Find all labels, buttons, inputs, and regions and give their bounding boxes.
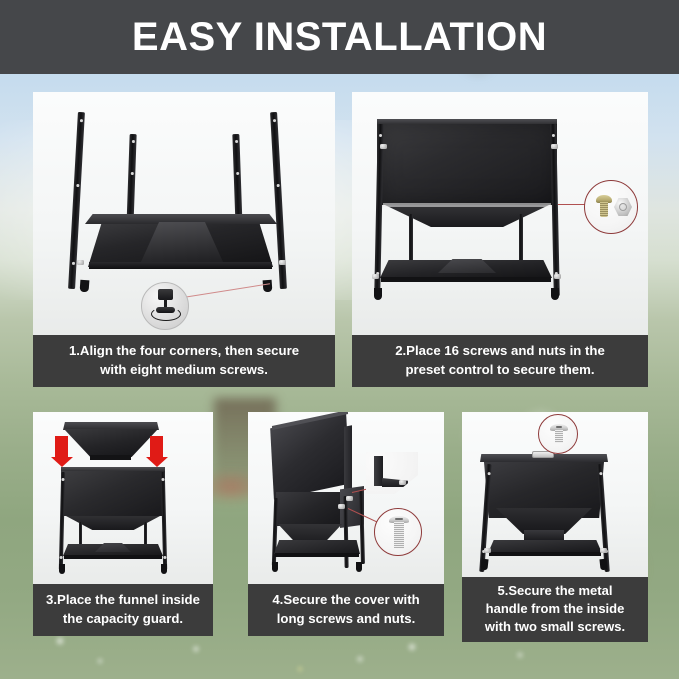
inner-support-right (519, 214, 523, 268)
tray-nut-left (372, 274, 379, 279)
hinge-hole-upper (346, 496, 353, 501)
foot-left (59, 564, 65, 574)
step-2-caption-line-2: preset control to secure them. (356, 361, 644, 380)
screw-slot-icon (556, 426, 562, 428)
step-1-photo (33, 92, 335, 335)
foot-right (599, 559, 607, 571)
rotation-arrow-icon (151, 307, 181, 321)
foot-right (161, 564, 167, 574)
small-screw-shaft-icon (555, 430, 563, 443)
screw-nut-callout (584, 180, 638, 234)
step-5-photo (462, 412, 648, 577)
insert-arrow-right (150, 436, 163, 458)
guard-back-panel (61, 470, 165, 516)
foot-right (551, 288, 559, 300)
step-card-2: 2.Place 16 screws and nuts in the preset… (352, 92, 648, 387)
step-4-caption-line-1: 4.Secure the cover with (252, 591, 440, 610)
leg-rear-right (359, 490, 365, 564)
long-screw-shaft-icon (394, 522, 404, 548)
handle-screw-callout (538, 414, 578, 454)
funnel-highlight (383, 203, 551, 207)
foot-left (80, 280, 90, 293)
inner-support-left (409, 214, 413, 268)
callout-leader-line-1 (183, 283, 270, 298)
cover-side-edge (344, 425, 352, 493)
funnel-rim (63, 422, 159, 430)
step-3-caption-line-1: 3.Place the funnel inside (37, 591, 209, 610)
bottom-tray (274, 540, 360, 554)
step-4-caption-line-2: long screws and nuts. (252, 610, 440, 629)
panel-screw-top-right (551, 144, 558, 149)
step-card-4: 4.Secure the cover with long screws and … (248, 412, 444, 636)
guard-top-edge (61, 467, 165, 471)
callout-leader-line-2 (558, 204, 587, 205)
guard-top-edge (377, 119, 557, 124)
step-4-photo (248, 412, 444, 584)
foot-right (263, 280, 273, 293)
tray-nut-right (600, 548, 607, 553)
screw-shaft-icon (600, 202, 608, 217)
step-3-caption-line-2: the capacity guard. (37, 610, 209, 629)
tray-lower-lip (89, 262, 272, 269)
step-5-caption-line-1: 5.Secure the metal (466, 582, 644, 600)
page-title: EASY INSTALLATION (132, 15, 547, 60)
step-1-caption: 1.Align the four corners, then secure wi… (33, 335, 335, 387)
corner-nut-right (279, 260, 286, 265)
hinge-bracket-icon (374, 456, 383, 486)
step-card-5: 5.Secure the metal handle from the insid… (462, 412, 648, 642)
leg-left (374, 124, 384, 296)
header-bar: EASY INSTALLATION (0, 0, 679, 74)
step-5-caption: 5.Secure the metal handle from the insid… (462, 577, 648, 642)
funnel-outlet (524, 530, 564, 540)
step-2-caption-line-1: 2.Place 16 screws and nuts in the (356, 342, 644, 361)
step-2-photo (352, 92, 648, 335)
foot-right (356, 562, 362, 572)
foot-left (272, 562, 278, 572)
bottom-tray-lip (381, 277, 551, 282)
corner-nut-left (77, 260, 84, 265)
step-1-caption-line-2: with eight medium screws. (37, 361, 331, 380)
step-3-caption: 3.Place the funnel inside the capacity g… (33, 584, 213, 636)
funnel-neck (90, 455, 131, 460)
leg-right (550, 124, 560, 296)
tray-nut-right (554, 274, 561, 279)
bottom-tray-lip (64, 555, 162, 559)
guard-back-panel (377, 122, 557, 205)
guard-body (276, 492, 344, 526)
hex-nut-icon (614, 198, 632, 216)
tray-nut-left (484, 548, 491, 553)
foot-left (480, 559, 488, 571)
funnel-body (64, 429, 158, 457)
insert-arrow-left (55, 436, 68, 458)
step-2-caption: 2.Place 16 screws and nuts in the preset… (352, 335, 648, 387)
step-card-3: 3.Place the funnel inside the capacity g… (33, 412, 213, 636)
step-5-caption-line-3: with two small screws. (466, 618, 644, 636)
screw-slot-icon (395, 518, 403, 520)
infographic-page: EASY INSTALLATION (0, 0, 679, 679)
bottom-tray-lip (275, 553, 359, 557)
bottom-tray-lip (489, 552, 601, 556)
step-4-caption: 4.Secure the cover with long screws and … (248, 584, 444, 636)
hinge-screw-icon (399, 480, 406, 485)
step-3-photo (33, 412, 213, 584)
adjustable-foot-callout (141, 282, 189, 330)
step-5-caption-line-2: handle from the inside (466, 600, 644, 618)
hinge-cutaway-callout (366, 452, 418, 494)
panel-screw-top-left (380, 144, 387, 149)
long-screw-callout (374, 508, 422, 556)
foot-left (374, 288, 382, 300)
step-1-caption-line-1: 1.Align the four corners, then secure (37, 342, 331, 361)
step-card-1: 1.Align the four corners, then secure wi… (33, 92, 335, 387)
hinge-hole-lower (338, 504, 345, 509)
